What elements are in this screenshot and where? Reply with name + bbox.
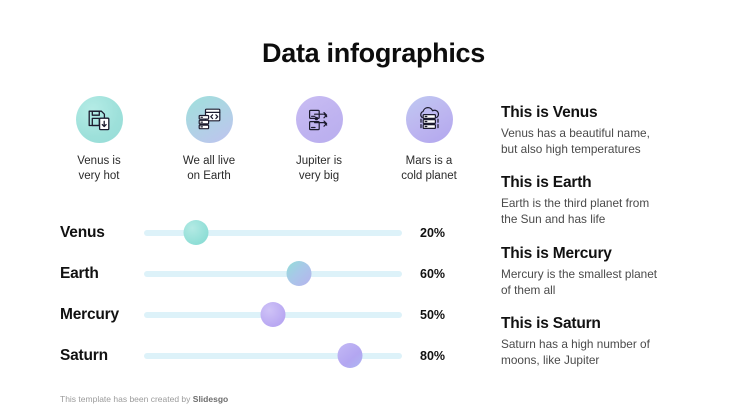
description-body-saturn-line2: moons, like Jupiter	[501, 352, 711, 368]
icon-column-2: We all live on Earth	[154, 96, 264, 184]
slider-label-mercury: Mercury	[60, 306, 144, 324]
slider-track-saturn[interactable]	[144, 344, 402, 368]
description-body-earth-line2: the Sun and has life	[501, 211, 711, 227]
description-heading-mercury: This is Mercury	[501, 245, 711, 263]
slider-value-mercury: 50%	[420, 308, 445, 322]
description-earth: This is Earth Earth is the third planet …	[501, 174, 711, 227]
server-transfer-icon	[296, 96, 343, 143]
slider-knob-venus[interactable]	[183, 220, 208, 245]
slider-track-earth[interactable]	[144, 262, 402, 286]
slider-label-earth: Earth	[60, 265, 144, 283]
slider-row-mercury: Mercury 50%	[60, 294, 460, 335]
icon-column-1: Venus is very hot	[44, 96, 154, 184]
footer-credit-text: This template has been created by	[60, 394, 193, 404]
description-body-mercury-line1: Mercury is the smallest planet	[501, 266, 711, 282]
server-code-icon	[186, 96, 233, 143]
description-body-venus-line2: but also high temperatures	[501, 141, 711, 157]
slider-row-saturn: Saturn 80%	[60, 335, 460, 376]
icon-columns: Venus is very hot We all live on Earth	[44, 96, 484, 184]
icon-caption-2-line1: We all live	[183, 154, 235, 169]
slider-knob-saturn[interactable]	[338, 343, 363, 368]
icon-caption-3: Jupiter is very big	[296, 154, 342, 184]
description-body-venus-line1: Venus has a beautiful name,	[501, 125, 711, 141]
cloud-server-icon	[406, 96, 453, 143]
icon-caption-3-line1: Jupiter is	[296, 154, 342, 169]
slider-value-earth: 60%	[420, 267, 445, 281]
slider-track-bg-saturn	[144, 353, 402, 359]
slider-label-saturn: Saturn	[60, 347, 144, 365]
icon-caption-2: We all live on Earth	[183, 154, 235, 184]
description-heading-saturn: This is Saturn	[501, 315, 711, 333]
footer-credit-brand[interactable]: Slidesgo	[193, 394, 228, 404]
slider-list: Venus 20% Earth 60% Mercury 50% Sat	[60, 212, 460, 376]
slider-knob-earth[interactable]	[286, 261, 311, 286]
description-list: This is Venus Venus has a beautiful name…	[501, 104, 711, 368]
save-document-icon	[76, 96, 123, 143]
description-body-saturn: Saturn has a high number of moons, like …	[501, 336, 711, 368]
slider-track-venus[interactable]	[144, 221, 402, 245]
slider-knob-mercury[interactable]	[261, 302, 286, 327]
icon-caption-4-line2: cold planet	[401, 169, 457, 184]
icon-caption-4-line1: Mars is a	[401, 154, 457, 169]
description-heading-venus: This is Venus	[501, 104, 711, 122]
page-title: Data infographics	[0, 38, 747, 69]
icon-caption-1-line1: Venus is	[77, 154, 120, 169]
description-body-venus: Venus has a beautiful name, but also hig…	[501, 125, 711, 157]
icon-caption-2-line2: on Earth	[183, 169, 235, 184]
slider-value-saturn: 80%	[420, 349, 445, 363]
icon-caption-1-line2: very hot	[77, 169, 120, 184]
description-saturn: This is Saturn Saturn has a high number …	[501, 315, 711, 368]
description-body-earth: Earth is the third planet from the Sun a…	[501, 195, 711, 227]
slider-track-bg-earth	[144, 271, 402, 277]
slider-label-venus: Venus	[60, 224, 144, 242]
icon-caption-4: Mars is a cold planet	[401, 154, 457, 184]
slider-value-venus: 20%	[420, 226, 445, 240]
description-body-saturn-line1: Saturn has a high number of	[501, 336, 711, 352]
slider-track-mercury[interactable]	[144, 303, 402, 327]
description-body-mercury-line2: of them all	[501, 282, 711, 298]
description-mercury: This is Mercury Mercury is the smallest …	[501, 245, 711, 298]
slider-row-earth: Earth 60%	[60, 253, 460, 294]
footer-credit: This template has been created by Slides…	[60, 394, 228, 404]
slider-row-venus: Venus 20%	[60, 212, 460, 253]
slide-canvas: Data infographics Venus is very hot	[0, 0, 747, 420]
icon-column-4: Mars is a cold planet	[374, 96, 484, 184]
description-body-earth-line1: Earth is the third planet from	[501, 195, 711, 211]
description-venus: This is Venus Venus has a beautiful name…	[501, 104, 711, 157]
icon-column-3: Jupiter is very big	[264, 96, 374, 184]
description-body-mercury: Mercury is the smallest planet of them a…	[501, 266, 711, 298]
description-heading-earth: This is Earth	[501, 174, 711, 192]
icon-caption-1: Venus is very hot	[77, 154, 120, 184]
icon-caption-3-line2: very big	[296, 169, 342, 184]
